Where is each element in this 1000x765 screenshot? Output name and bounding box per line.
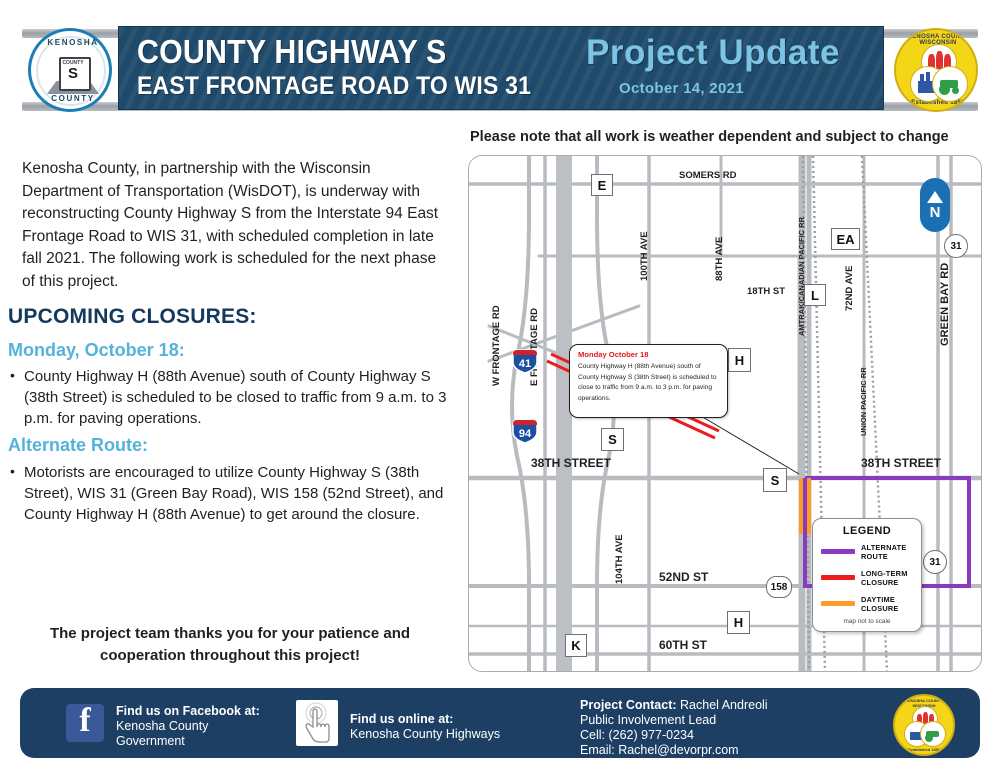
alternate-route-bullet: Motorists are encouraged to utilize Coun… xyxy=(8,462,458,525)
contact-heading: Project Contact: Rachel Andreoli xyxy=(580,698,768,713)
page-footer: f Find us on Facebook at: Kenosha County… xyxy=(20,688,980,758)
online-heading: Find us online at: xyxy=(350,712,500,727)
weather-note: Please note that all work is weather dep… xyxy=(470,129,949,145)
street-label: 104TH AVE xyxy=(614,534,625,584)
legend-label: LONG-TERM CLOSURE xyxy=(861,569,921,587)
north-label: N xyxy=(930,205,941,220)
closure-bullet: County Highway H (88th Avenue) south of … xyxy=(8,366,458,429)
online-line1: Kenosha County Highways xyxy=(350,727,500,742)
interstate-shield-41: 41 xyxy=(511,348,539,374)
legend-label: ALTERNATE ROUTE xyxy=(861,543,921,561)
legend-swatch xyxy=(821,601,855,606)
contact-name: Rachel Andreoli xyxy=(680,698,768,712)
facebook-heading: Find us on Facebook at: xyxy=(116,704,260,719)
route-marker-ea: EA xyxy=(831,228,860,250)
route-marker-158: 158 xyxy=(766,576,792,598)
legend-label: DAYTIME CLOSURE xyxy=(861,595,921,613)
route-marker-k: K xyxy=(565,634,587,657)
street-label: 18TH ST xyxy=(747,286,785,297)
street-label: 100TH AVE xyxy=(639,231,650,281)
shield-letter: S xyxy=(61,66,85,82)
legend-scale-note: map not to scale xyxy=(813,618,921,625)
kenosha-county-wisconsin-seal-icon: KENOSHA COUNTY WISCONSIN Established 185… xyxy=(894,28,978,112)
facebook-line2: Government xyxy=(116,734,260,749)
contact-label: Project Contact: xyxy=(580,698,677,712)
kenosha-county-highway-seal-icon: KENOSHA COUNTY COUNTY S xyxy=(28,28,112,112)
footer-county-seal-icon: KENOSHA COUNTY WISCONSIN Established 185… xyxy=(893,694,955,756)
legend-item-alternate-route: ALTERNATE ROUTE xyxy=(821,545,921,567)
contact-email[interactable]: Email: Rachel@devorpr.com xyxy=(580,743,768,758)
railroad-label: UNION PACIFIC RR xyxy=(859,367,868,436)
project-update-title: Project Update xyxy=(586,33,840,73)
street-label: SOMERS RD xyxy=(679,170,737,181)
legend-item-daytime-closure: DAYTIME CLOSURE xyxy=(821,597,921,619)
facebook-line1: Kenosha County xyxy=(116,719,260,734)
street-label: 60TH ST xyxy=(659,638,707,652)
contact-role: Public Involvement Lead xyxy=(580,713,768,728)
map-callout-box: Monday October 18 County Highway H (88th… xyxy=(569,344,728,418)
svg-text:94: 94 xyxy=(519,428,532,440)
header-banner: COUNTY HIGHWAY S EAST FRONTAGE ROAD TO W… xyxy=(118,26,884,110)
lead-paragraph: Kenosha County, in partnership with the … xyxy=(22,158,442,293)
callout-title: Monday October 18 xyxy=(578,350,648,359)
page-title: COUNTY HIGHWAY S xyxy=(137,33,446,71)
street-label: 52ND ST xyxy=(659,570,708,584)
route-marker-e: E xyxy=(591,174,613,196)
route-marker-s: S xyxy=(601,428,624,451)
street-label: 38TH STREET xyxy=(861,456,941,470)
legend-swatch xyxy=(821,575,855,580)
svg-text:41: 41 xyxy=(519,358,531,370)
thank-you-message: The project team thanks you for your pat… xyxy=(20,623,440,667)
route-marker-h: H xyxy=(728,348,751,372)
route-marker-31: 31 xyxy=(923,550,947,574)
street-label: GREEN BAY RD xyxy=(939,263,951,346)
street-label: 72ND AVE xyxy=(844,266,855,311)
highway-shield-icon: COUNTY S xyxy=(59,57,91,91)
upcoming-closures-heading: UPCOMING CLOSURES: xyxy=(8,305,257,329)
north-arrow-icon: N xyxy=(920,178,950,232)
street-label: 88TH AVE xyxy=(714,237,725,281)
route-marker-s: S xyxy=(763,468,787,492)
callout-leader-line xyxy=(701,416,799,474)
railroad-label: AMTRAK/CANADIAN PACIFIC RR xyxy=(797,217,806,336)
page-subtitle: EAST FRONTAGE ROAD TO WIS 31 xyxy=(137,72,531,101)
legend-title: LEGEND xyxy=(813,525,921,537)
map-legend: LEGEND ALTERNATE ROUTE LONG-TERM CLOSURE… xyxy=(812,518,922,632)
facebook-icon[interactable]: f xyxy=(66,704,104,742)
street-label: 38TH STREET xyxy=(531,456,611,470)
callout-text: County Highway H (88th Avenue) south of … xyxy=(578,362,721,404)
route-marker-h: H xyxy=(727,611,750,634)
seal-bottom-text: COUNTY xyxy=(31,94,115,103)
click-hand-icon[interactable] xyxy=(296,700,338,746)
interstate-shield-94: 94 xyxy=(511,418,539,444)
alternate-route-heading: Alternate Route: xyxy=(8,435,148,456)
project-map[interactable]: W FRONTAGE RD E FRONTAGE RD SOMERS RD 10… xyxy=(468,155,982,672)
legend-swatch xyxy=(821,549,855,554)
seal-bottom-text: Established 1850 xyxy=(895,747,953,752)
tractor-emblem-icon xyxy=(920,721,946,747)
seal-top-text: KENOSHA xyxy=(31,38,115,47)
contact-cell: Cell: (262) 977-0234 xyxy=(580,728,768,743)
legend-item-long-term-closure: LONG-TERM CLOSURE xyxy=(821,571,921,593)
route-marker-l: L xyxy=(804,284,826,306)
page-header: KENOSHA COUNTY COUNTY S COUNTY HIGHWAY S… xyxy=(0,0,1000,122)
route-marker-31: 31 xyxy=(944,234,968,258)
publication-date: October 14, 2021 xyxy=(619,80,744,97)
seal-bottom-text: Established 1850 xyxy=(896,100,978,106)
street-label: W FRONTAGE RD xyxy=(491,305,502,386)
tractor-emblem-icon xyxy=(932,66,968,102)
monday-heading: Monday, October 18: xyxy=(8,340,185,361)
